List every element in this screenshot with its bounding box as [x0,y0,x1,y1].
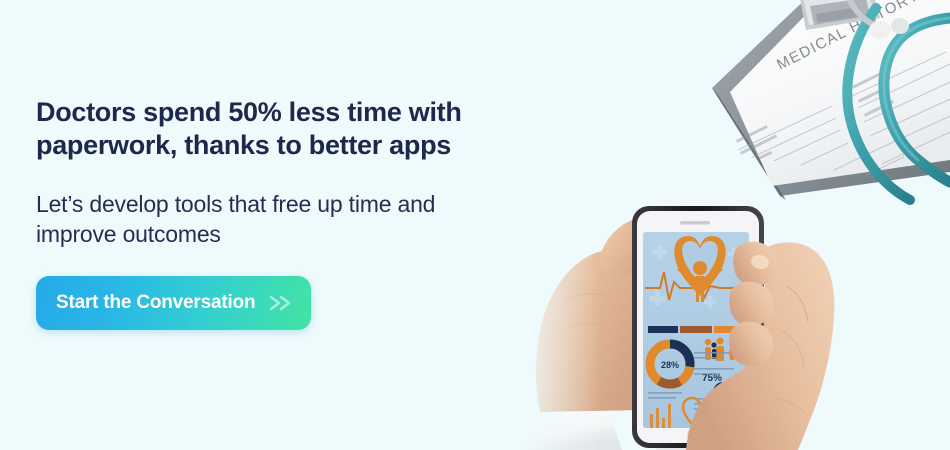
subheading-line-1: Let’s develop tools that free up time an… [36,191,435,217]
promo-banner: MEDICAL HISTORY FORM [0,0,950,450]
double-chevron-right-icon [267,293,293,313]
subheading: Let’s develop tools that free up time an… [36,162,556,249]
headline-line-1: Doctors spend 50% less time with [36,97,462,127]
page-title: Doctors spend 50% less time with paperwo… [36,96,556,162]
subheading-line-2: improve outcomes [36,221,221,247]
headline-line-2: paperwork, thanks to better apps [36,130,451,160]
copy-block: Doctors spend 50% less time with paperwo… [36,96,556,330]
cta-container: Start the Conversation [36,249,556,330]
donut-label-28: 28% [661,360,679,370]
donut-label-75: 75% [702,373,722,384]
cta-label: Start the Conversation [56,292,255,314]
start-conversation-button[interactable]: Start the Conversation [36,276,311,330]
